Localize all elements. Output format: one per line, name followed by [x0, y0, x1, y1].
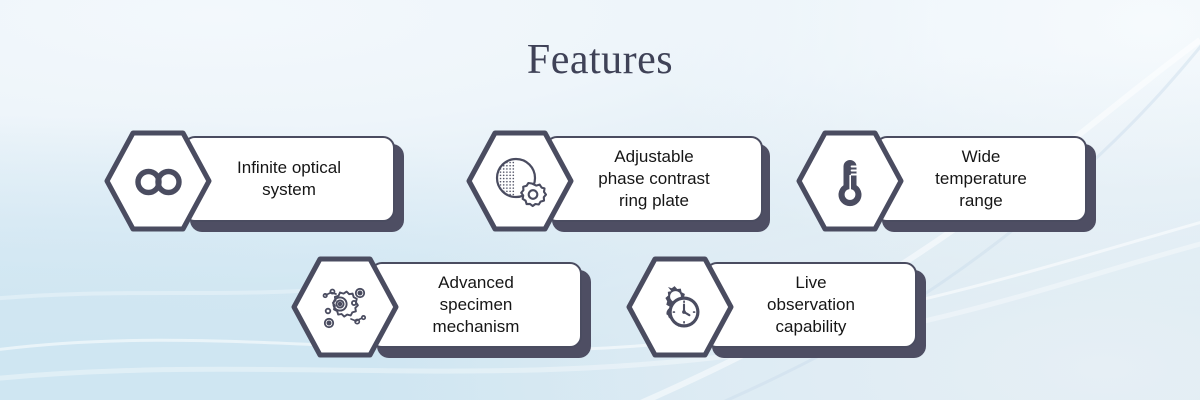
feature-label-line: Adjustable: [614, 147, 693, 166]
feature-label: Live observation capability: [757, 272, 865, 337]
feature-label-line: phase contrast: [598, 169, 710, 188]
feature-label-line: mechanism: [433, 317, 520, 336]
page-title: Features: [0, 36, 1200, 84]
feature-label-line: specimen: [440, 295, 513, 314]
feature-card-wide-temperature-range[interactable]: Wide temperature range: [796, 130, 1096, 232]
infinity-icon: [131, 155, 185, 209]
thermometer-icon: [823, 155, 877, 209]
feature-card-infinite-optical-system[interactable]: Infinite optical system: [104, 130, 404, 232]
gear-clock-icon: [653, 281, 707, 335]
card-panel: Infinite optical system: [183, 136, 395, 222]
card-panel: Live observation capability: [705, 262, 917, 348]
feature-label-line: temperature: [935, 169, 1027, 188]
feature-label: Advanced specimen mechanism: [423, 272, 530, 337]
card-panel: Adjustable phase contrast ring plate: [545, 136, 763, 222]
card-panel: Advanced specimen mechanism: [370, 262, 582, 348]
feature-label-line: range: [959, 191, 1002, 210]
feature-card-live-observation-capability[interactable]: Live observation capability: [626, 256, 926, 358]
gear-network-icon: [318, 281, 372, 335]
feature-label-line: ring plate: [619, 191, 689, 210]
feature-label-line: system: [262, 180, 316, 199]
phase-contrast-disc-icon: [493, 155, 547, 209]
card-panel: Wide temperature range: [875, 136, 1087, 222]
feature-card-advanced-specimen-mechanism[interactable]: Advanced specimen mechanism: [291, 256, 591, 358]
feature-label-line: capability: [776, 317, 847, 336]
feature-card-adjustable-phase-contrast-ring-plate[interactable]: Adjustable phase contrast ring plate: [466, 130, 766, 232]
feature-label: Wide temperature range: [925, 146, 1037, 211]
feature-label-line: Wide: [962, 147, 1001, 166]
feature-label-line: Infinite optical: [237, 158, 341, 177]
feature-label-line: Advanced: [438, 273, 514, 292]
feature-label-line: Live: [795, 273, 826, 292]
feature-label-line: observation: [767, 295, 855, 314]
feature-label: Adjustable phase contrast ring plate: [588, 146, 720, 211]
feature-label: Infinite optical system: [227, 157, 351, 201]
features-infographic: Features Infinite optical system: [0, 0, 1200, 400]
